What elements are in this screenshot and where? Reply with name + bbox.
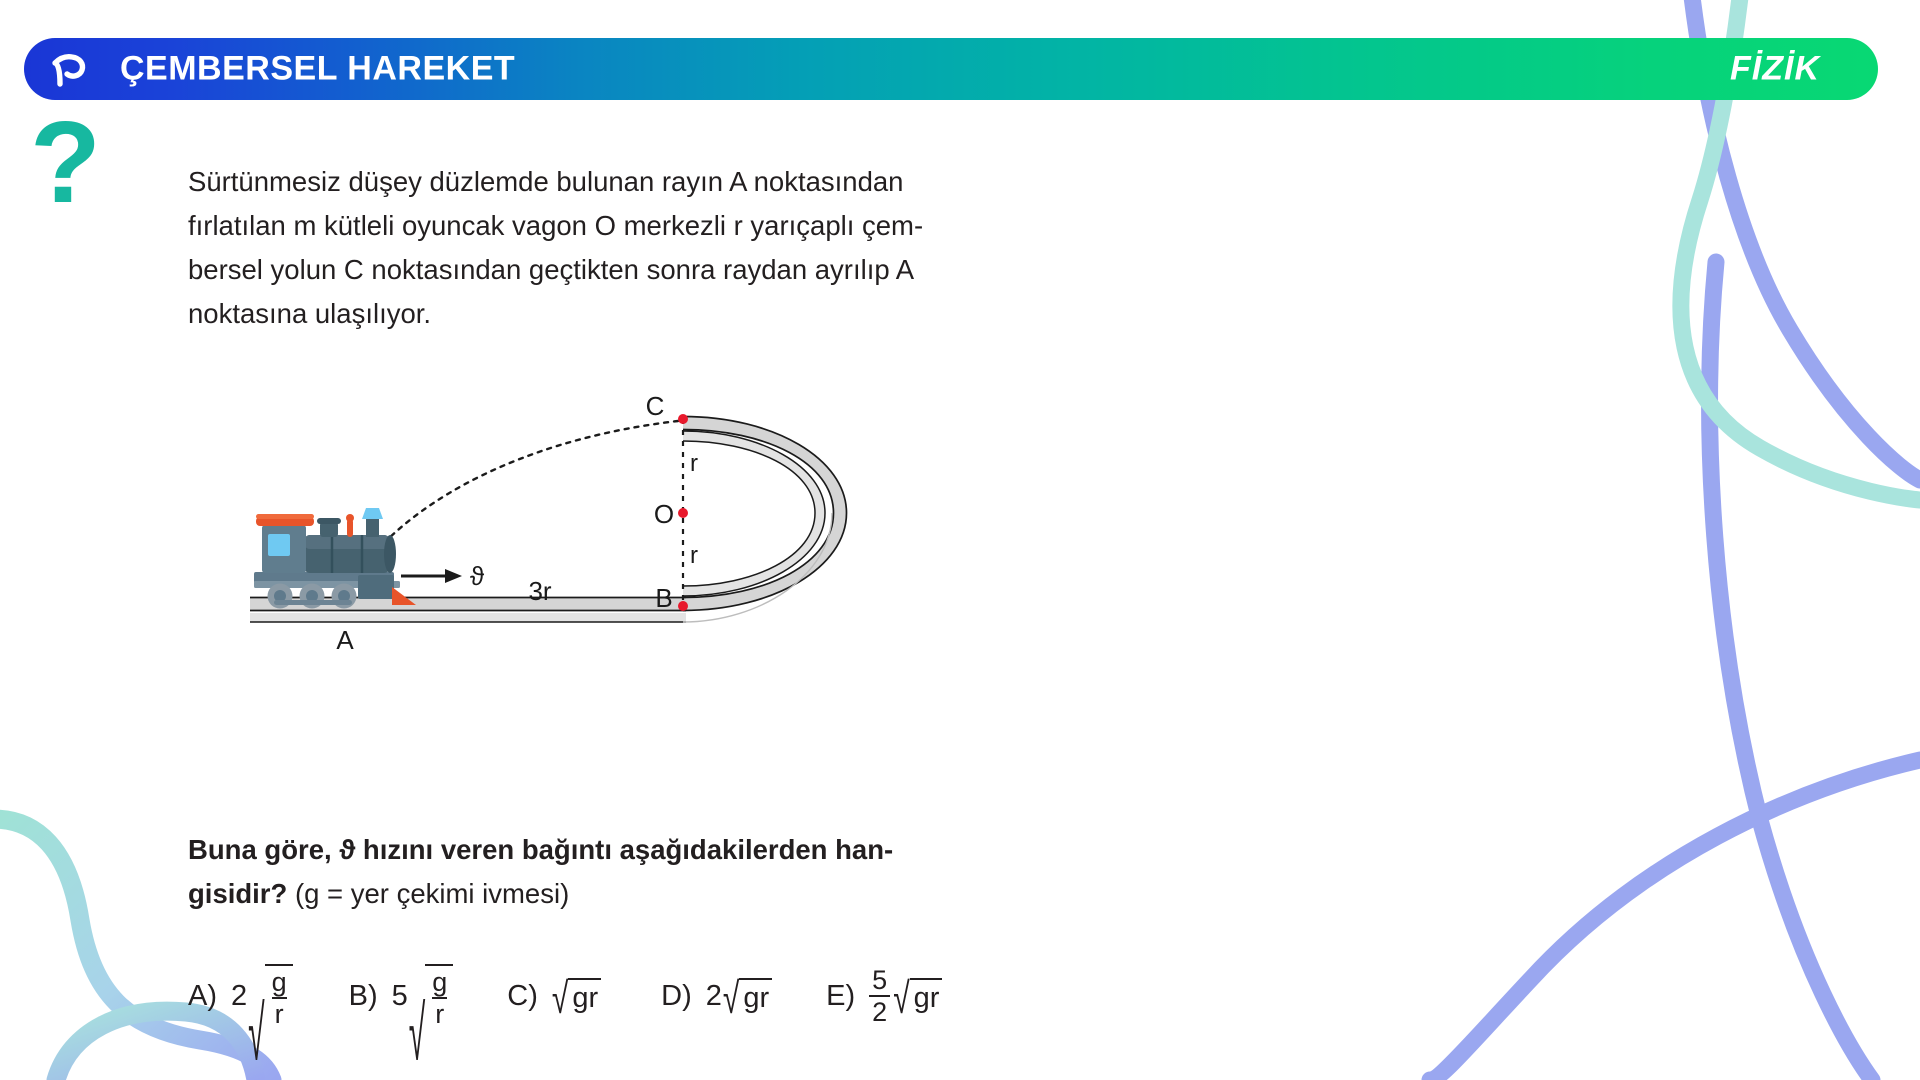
sqrt-radical-icon: √ — [723, 968, 739, 1022]
prompt-normal-part: (g = yer çekimi ivmesi) — [287, 878, 569, 909]
sqrt-group-e: √ gr — [893, 978, 942, 1015]
label-point-b: B — [655, 583, 672, 613]
label-point-o: O — [654, 499, 674, 529]
fraction-numerator-a: g — [269, 968, 290, 997]
physics-diagram: C O B A r r 3r ϑ — [240, 395, 1100, 665]
page-title: ÇEMBERSEL HAREKET — [120, 50, 515, 89]
fraction-denominator-b: r — [432, 997, 447, 1028]
pi-logo-icon — [44, 44, 94, 94]
answer-letter-c: C) — [507, 980, 538, 1013]
coefficient-fraction-e: 5 2 — [869, 966, 890, 1026]
answer-expression-c: √ gr — [552, 978, 601, 1015]
sqrt-radical-icon: √ — [248, 912, 264, 1076]
velocity-arrow — [401, 569, 462, 583]
subject-badge: FİZİK — [1730, 50, 1820, 89]
stem-line-1: Sürtünmesiz düşey düzlemde bulunan rayın… — [188, 160, 1128, 204]
sqrt-radicand-c: gr — [568, 978, 601, 1015]
answer-letter-d: D) — [661, 980, 692, 1013]
sqrt-radical-icon: √ — [893, 968, 909, 1022]
fraction-a: g r — [269, 968, 290, 1028]
point-marker-c — [678, 414, 688, 424]
answer-option-a[interactable]: A) 2 √ g r — [188, 964, 293, 1028]
decor-curve-blue-bottom — [1430, 760, 1920, 1080]
prompt-bold-line-2: gisidir? — [188, 878, 287, 909]
answer-option-c[interactable]: C) √ gr — [507, 978, 601, 1015]
answer-coefficient-d: 2 — [706, 980, 722, 1013]
sqrt-radical-icon: √ — [552, 968, 568, 1022]
sqrt-radicand-a: g r — [265, 964, 293, 1028]
label-horizontal-distance: 3r — [528, 576, 551, 606]
sqrt-radicand-b: g r — [425, 964, 453, 1028]
point-marker-b — [678, 601, 688, 611]
answer-expression-d: 2 √ gr — [706, 978, 772, 1015]
stem-line-3: bersel yolun C noktasından geçtikten son… — [188, 248, 1128, 292]
answer-option-b[interactable]: B) 5 √ g r — [349, 964, 454, 1028]
trajectory-dashed-path — [384, 421, 678, 543]
sqrt-group-c: √ gr — [552, 978, 601, 1015]
stem-line-4: noktasına ulaşılıyor. — [188, 292, 1128, 336]
fraction-numerator-b: g — [429, 968, 450, 997]
sqrt-group-b: √ g r — [409, 964, 454, 1028]
answer-option-d[interactable]: D) 2 √ gr — [661, 978, 772, 1015]
sqrt-radicand-d: gr — [739, 978, 772, 1015]
answer-letter-b: B) — [349, 980, 378, 1013]
track-straight-band-lower — [250, 613, 686, 622]
question-prompt: Buna göre, ϑ hızını veren bağıntı aşağıd… — [188, 828, 1138, 916]
coefficient-denominator-e: 2 — [869, 995, 890, 1026]
answer-expression-e: 5 2 √ gr — [869, 966, 942, 1026]
question-stem: Sürtünmesiz düşey düzlemde bulunan rayın… — [188, 160, 1128, 336]
answer-coefficient-b: 5 — [392, 980, 408, 1013]
fraction-b: g r — [429, 968, 450, 1028]
coefficient-numerator-e: 5 — [869, 966, 890, 995]
prompt-bold-line-1: Buna göre, ϑ hızını veren bağıntı aşağıd… — [188, 834, 893, 865]
label-point-a: A — [336, 625, 354, 655]
sqrt-radicand-e: gr — [910, 978, 943, 1015]
answer-options: A) 2 √ g r B) 5 √ g — [188, 948, 1188, 1044]
answer-letter-a: A) — [188, 980, 217, 1013]
answer-coefficient-a: 2 — [231, 980, 247, 1013]
sqrt-group-d: √ gr — [723, 978, 772, 1015]
sqrt-radical-icon: √ — [409, 912, 425, 1076]
decor-curve-blue-right-lower — [1710, 262, 1872, 1080]
label-radius-upper: r — [690, 450, 698, 477]
sqrt-group-a: √ g r — [248, 964, 293, 1028]
answer-expression-a: 2 √ g r — [231, 964, 293, 1028]
fraction-denominator-a: r — [272, 997, 287, 1028]
label-velocity: ϑ — [470, 561, 485, 591]
label-radius-lower: r — [690, 542, 698, 569]
point-marker-o — [678, 508, 688, 518]
label-point-c: C — [646, 395, 665, 421]
stem-line-2: fırlatılan m kütleli oyuncak vagon O mer… — [188, 204, 1128, 248]
question-mark-icon: ? — [30, 104, 101, 220]
answer-option-e[interactable]: E) 5 2 √ gr — [826, 966, 942, 1026]
header-banner: ÇEMBERSEL HAREKET FİZİK — [24, 38, 1878, 100]
answer-letter-e: E) — [826, 980, 855, 1013]
toy-locomotive — [254, 508, 416, 609]
answer-expression-b: 5 √ g r — [392, 964, 454, 1028]
